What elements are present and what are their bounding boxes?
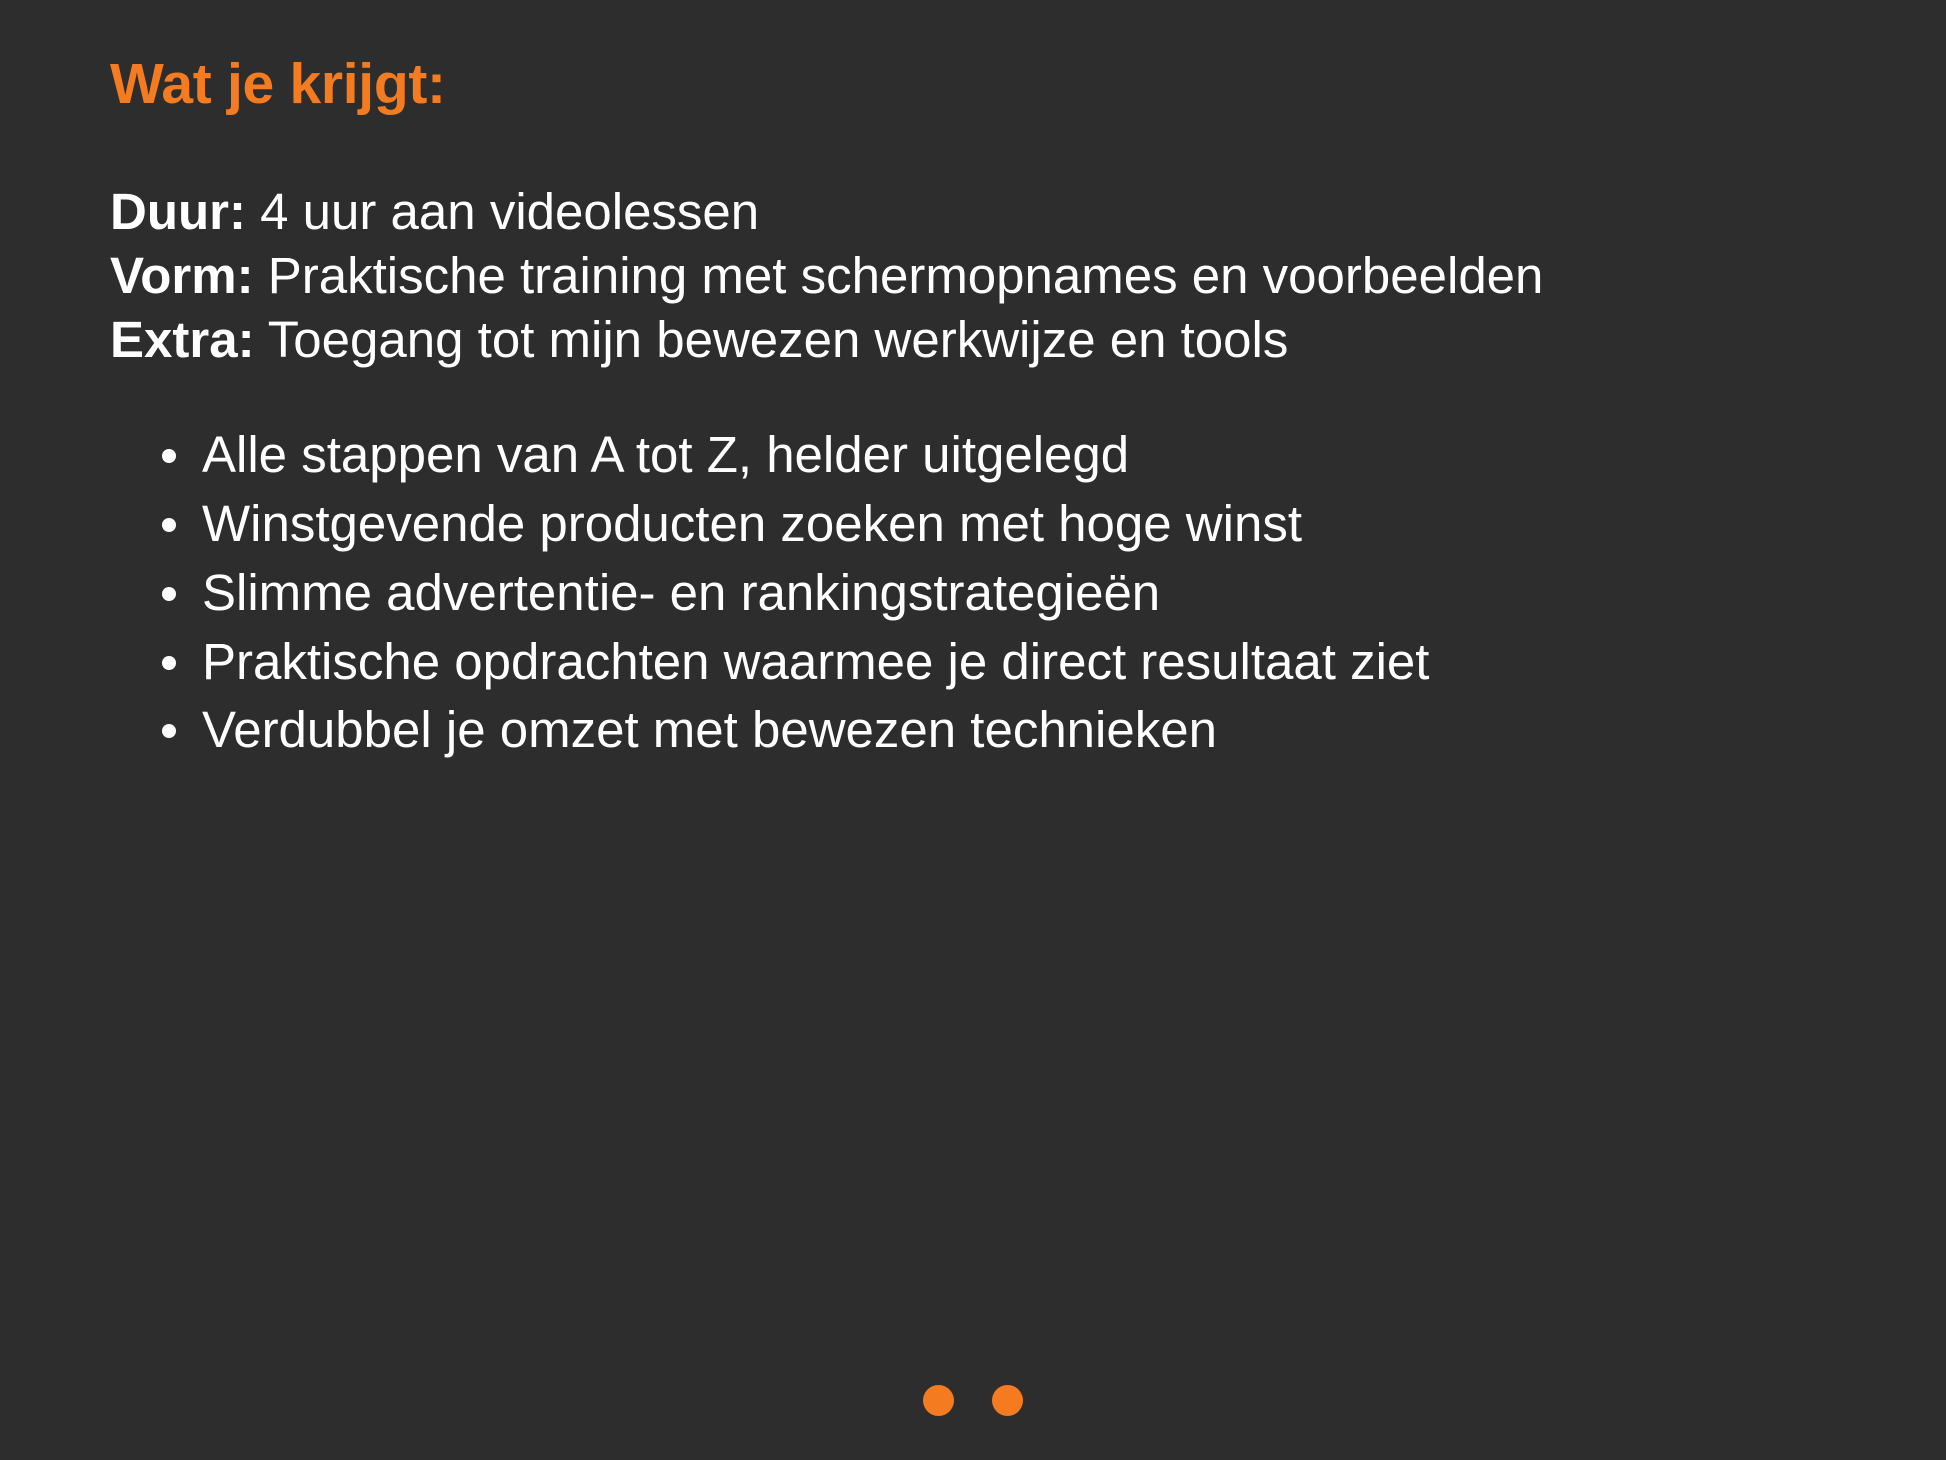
- list-item: Praktische opdrachten waarmee je direct …: [158, 629, 1886, 695]
- details-block: Duur: 4 uur aan videolessen Vorm: Prakti…: [110, 180, 1886, 373]
- list-item: Verdubbel je omzet met bewezen technieke…: [158, 697, 1886, 763]
- detail-value-duur: 4 uur aan videolessen: [246, 183, 759, 240]
- page-dot-2[interactable]: [992, 1385, 1023, 1416]
- detail-value-vorm: Praktische training met schermopnames en…: [254, 247, 1544, 304]
- detail-label-extra: Extra:: [110, 311, 255, 368]
- list-item-label: Alle stappen van A tot Z, helder uitgele…: [202, 426, 1129, 483]
- list-item-label: Slimme advertentie- en rankingstrategieë…: [202, 564, 1160, 621]
- detail-value-extra: Toegang tot mijn bewezen werkwijze en to…: [255, 311, 1289, 368]
- detail-label-duur: Duur:: [110, 183, 246, 240]
- list-item-label: Verdubbel je omzet met bewezen technieke…: [202, 701, 1217, 758]
- list-item: Winstgevende producten zoeken met hoge w…: [158, 491, 1886, 557]
- benefits-list: Alle stappen van A tot Z, helder uitgele…: [110, 422, 1886, 763]
- list-item-label: Winstgevende producten zoeken met hoge w…: [202, 495, 1302, 552]
- page-dot-1[interactable]: [923, 1385, 954, 1416]
- list-item-label: Praktische opdrachten waarmee je direct …: [202, 633, 1429, 690]
- detail-line-duur: Duur: 4 uur aan videolessen: [110, 180, 1886, 244]
- detail-label-vorm: Vorm:: [110, 247, 254, 304]
- slide-root: Wat je krijgt: Duur: 4 uur aan videoless…: [0, 0, 1946, 1460]
- detail-line-vorm: Vorm: Praktische training met schermopna…: [110, 244, 1886, 308]
- list-item: Slimme advertentie- en rankingstrategieë…: [158, 560, 1886, 626]
- slide-content: Wat je krijgt: Duur: 4 uur aan videoless…: [110, 52, 1886, 766]
- page-title: Wat je krijgt:: [110, 52, 1886, 118]
- list-item: Alle stappen van A tot Z, helder uitgele…: [158, 422, 1886, 488]
- pagination-dots[interactable]: [0, 1385, 1946, 1416]
- detail-line-extra: Extra: Toegang tot mijn bewezen werkwijz…: [110, 308, 1886, 372]
